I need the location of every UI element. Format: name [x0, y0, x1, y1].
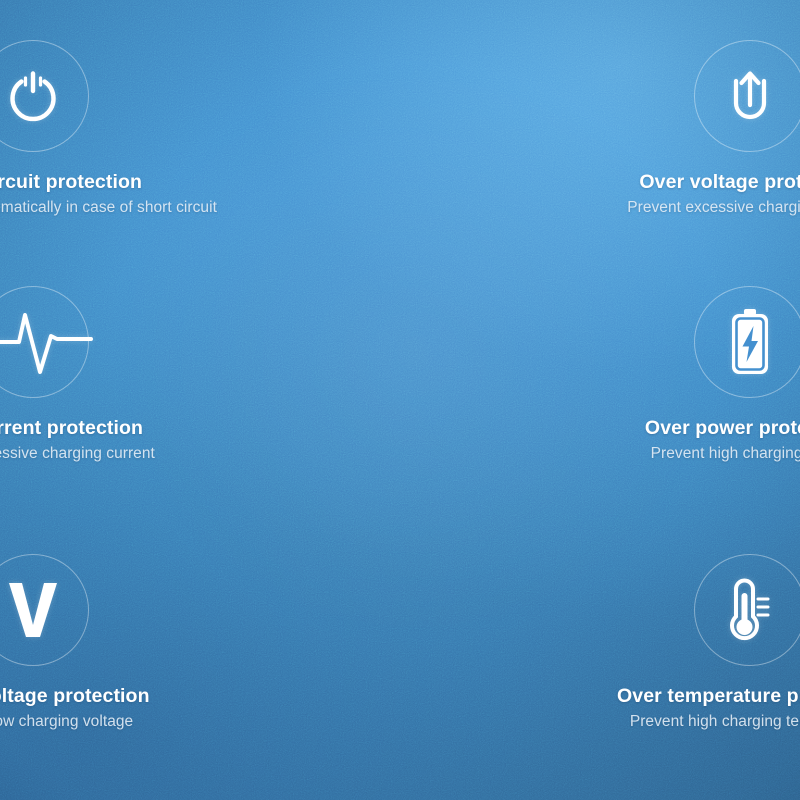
feature-title: Over temperature protection — [617, 684, 800, 708]
feature-labels: Over voltage protection Prevent excessiv… — [627, 170, 800, 219]
feature-item-under-voltage-protection: Under voltage protection Prevent low cha… — [0, 511, 400, 800]
icon-ring — [0, 286, 89, 398]
feature-item-short-circuit-protection: Short circuit protection Cut off the cir… — [0, 0, 400, 264]
icon-ring — [694, 286, 800, 398]
feature-subtitle: Prevent low charging voltage — [0, 712, 150, 733]
arrow-up-in-u-icon — [721, 65, 779, 127]
feature-title: Short circuit protection — [0, 170, 217, 194]
feature-labels: Over power protection Prevent high charg… — [645, 416, 800, 465]
pulse-waveform-icon — [0, 302, 97, 382]
feature-labels: Over temperature protection Prevent high… — [617, 684, 800, 733]
power-icon — [2, 65, 64, 127]
feature-labels: Under voltage protection Prevent low cha… — [0, 684, 150, 733]
feature-grid: Short circuit protection Cut off the cir… — [0, 0, 800, 800]
feature-subtitle: Cut off the circuit automatically in cas… — [0, 198, 217, 219]
thermometer-icon — [719, 575, 781, 645]
feature-title: Under voltage protection — [0, 684, 150, 708]
feature-item-over-temperature-protection: Over temperature protection Prevent high… — [400, 511, 800, 800]
feature-subtitle: Prevent high charging power — [645, 444, 800, 465]
feature-item-over-current-protection: Over current protection Prevent excessiv… — [0, 264, 400, 511]
feature-subtitle: Prevent high charging temperature — [617, 712, 800, 733]
feature-item-over-power-protection: Over power protection Prevent high charg… — [400, 264, 800, 511]
icon-ring — [0, 40, 89, 152]
feature-subtitle: Prevent excessive charging current — [0, 444, 155, 465]
icon-ring — [694, 40, 800, 152]
letter-v-icon — [6, 580, 60, 640]
battery-bolt-icon — [724, 307, 776, 377]
feature-labels: Over current protection Prevent excessiv… — [0, 416, 155, 465]
feature-title: Over power protection — [645, 416, 800, 440]
feature-title: Over voltage protection — [627, 170, 800, 194]
icon-ring — [0, 554, 89, 666]
feature-title: Over current protection — [0, 416, 155, 440]
feature-subtitle: Prevent excessive charging voltage — [627, 198, 800, 219]
feature-labels: Short circuit protection Cut off the cir… — [0, 170, 217, 219]
feature-item-over-voltage-protection: Over voltage protection Prevent excessiv… — [400, 0, 800, 264]
icon-ring — [694, 554, 800, 666]
